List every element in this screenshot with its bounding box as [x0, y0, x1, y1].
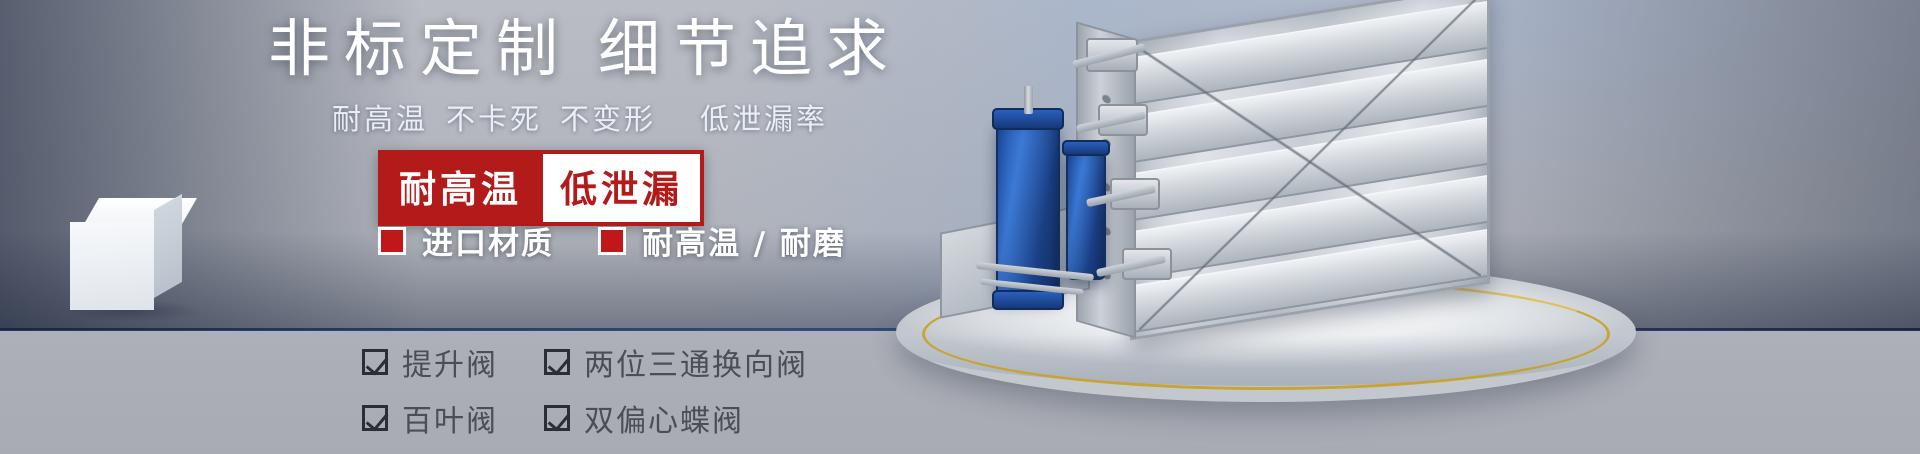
flange-bolt: [1102, 93, 1111, 105]
filled-square-icon: [598, 227, 626, 255]
headline-part-1: 非标定制: [268, 12, 572, 85]
feature-bullet-label: 耐高温 / 耐磨: [642, 218, 846, 263]
feature-bullet-item: 耐高温 / 耐磨: [598, 218, 846, 263]
checkbox-checked-icon: [544, 349, 570, 375]
louver-damper-valve-photo: [880, 0, 1920, 454]
feature-tag-white-label: 低泄漏: [543, 154, 700, 222]
feature-bullet-list: 进口材质 耐高温 / 耐磨: [378, 218, 846, 263]
cube-side-face: [154, 194, 182, 298]
cube-front-face: [70, 222, 154, 310]
checklist-item: 双偏心蝶阀: [544, 396, 808, 440]
checklist-item-label: 提升阀: [402, 340, 498, 384]
actuator-bottom-cap: [992, 290, 1064, 310]
checklist-item-label: 百叶阀: [402, 396, 498, 440]
white-cube-icon: [70, 198, 182, 310]
checklist-item-label: 双偏心蝶阀: [584, 396, 744, 440]
checklist-item: 两位三通换向阀: [544, 340, 808, 384]
checklist-item-label: 两位三通换向阀: [584, 340, 808, 384]
promo-banner: 非标定制细节追求 耐高温不卡死不变形低泄漏率 耐高温 低泄漏 进口材质 耐高温 …: [0, 0, 1920, 454]
headline-part-2: 细节追求: [598, 12, 902, 85]
actuator-secondary-cap: [1062, 140, 1110, 156]
product-checklist: 提升阀 两位三通换向阀 百叶阀 双偏心蝶阀: [362, 340, 808, 440]
checkbox-checked-icon: [362, 349, 388, 375]
subtitle-item-3: 不变形: [560, 102, 656, 136]
feature-tag: 耐高温 低泄漏: [378, 150, 704, 226]
subtitle-item-2: 不卡死: [446, 102, 542, 136]
damper-housing: [1130, 0, 1490, 341]
subtitle-item-4: 低泄漏率: [700, 102, 828, 136]
feature-bullet-item: 进口材质: [378, 218, 554, 263]
checkbox-checked-icon: [544, 405, 570, 431]
checklist-item: 百叶阀: [362, 396, 498, 440]
feature-tag-red-label: 耐高温: [382, 154, 539, 222]
checkbox-checked-icon: [362, 405, 388, 431]
filled-square-icon: [378, 227, 406, 255]
feature-bullet-label: 进口材质: [422, 218, 554, 263]
pneumatic-actuator-secondary: [1066, 150, 1106, 280]
actuator-rod: [1024, 86, 1033, 114]
checklist-item: 提升阀: [362, 340, 498, 384]
subtitle-item-1: 耐高温: [332, 102, 428, 136]
